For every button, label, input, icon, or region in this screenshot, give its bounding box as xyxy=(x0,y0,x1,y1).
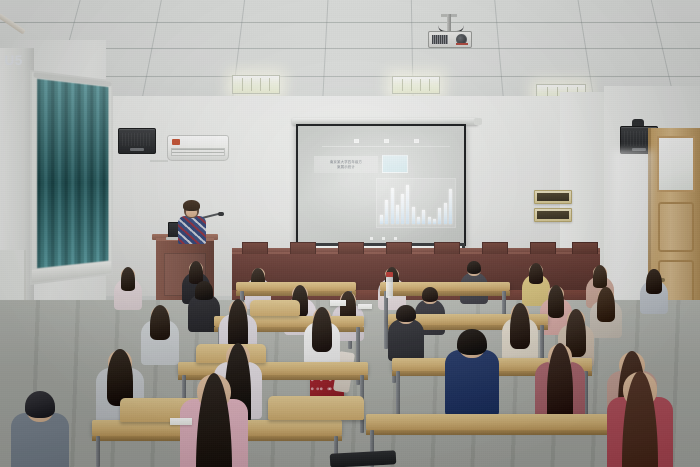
presenter-hair xyxy=(183,200,200,211)
left-window xyxy=(30,70,113,285)
chair-row3-a xyxy=(250,300,300,316)
smartphone xyxy=(330,450,397,467)
door-glass-panel xyxy=(657,136,695,192)
student-white-hoodie-hair xyxy=(312,307,332,352)
desk-row4-left xyxy=(178,362,368,375)
student-r3-d-hair xyxy=(396,305,415,322)
student-r1-h-hair xyxy=(646,269,661,294)
desk-paper-1 xyxy=(330,300,346,306)
bottle-cap xyxy=(386,272,393,277)
chair-row5-b xyxy=(268,396,364,420)
student-r2-f-hair xyxy=(597,287,614,322)
student-r2-e-hair xyxy=(548,285,565,317)
student-grey-hoodie-hair xyxy=(150,305,170,340)
student-r2-d-hair xyxy=(422,287,438,301)
screen-glow xyxy=(298,126,464,244)
desk-row5-right xyxy=(366,414,626,430)
student-navy-jacket-hair xyxy=(457,329,486,355)
student-navy-jacket-back-graphic: U5 xyxy=(0,54,27,71)
wall-plaque-upper xyxy=(534,190,572,204)
presenter-body xyxy=(178,216,206,244)
wall-plaque-lower xyxy=(534,208,572,222)
projection-screen: 南京某大学四年级方 案展示统计 xyxy=(296,124,466,246)
student-navy-jacket-body xyxy=(445,350,500,415)
ac-pipe xyxy=(150,160,168,162)
student-r1-f-hair xyxy=(529,263,544,284)
desk-paper-2 xyxy=(358,304,372,309)
desk-row5-left-leg-1 xyxy=(96,436,100,467)
speaker-icon-left xyxy=(118,128,156,154)
window-curtain xyxy=(37,79,108,268)
student-red-cap-hair xyxy=(195,281,212,300)
projector-icon xyxy=(428,14,472,48)
student-r3-d-body xyxy=(388,319,423,361)
student-r5-a-hair xyxy=(25,391,56,418)
slide-surface: 南京某大学四年级方 案展示统计 xyxy=(298,126,464,244)
microphone-icon xyxy=(218,212,224,216)
student-r1-g-hair xyxy=(593,265,608,288)
classroom-photo: 南京某大学四年级方 案展示统计 xyxy=(0,0,700,467)
desk-row2-right xyxy=(380,282,510,291)
water-bottle xyxy=(386,276,393,298)
student-r1-e-hair xyxy=(467,261,482,274)
air-conditioner-unit xyxy=(167,135,229,161)
student-r3-e-hair xyxy=(510,303,530,349)
desk-paper-3 xyxy=(170,418,192,425)
student-r1-a-hair xyxy=(121,267,136,291)
ceiling-light-left xyxy=(232,75,280,94)
door-panel-upper xyxy=(658,202,694,252)
ceiling-light-center xyxy=(392,76,440,94)
